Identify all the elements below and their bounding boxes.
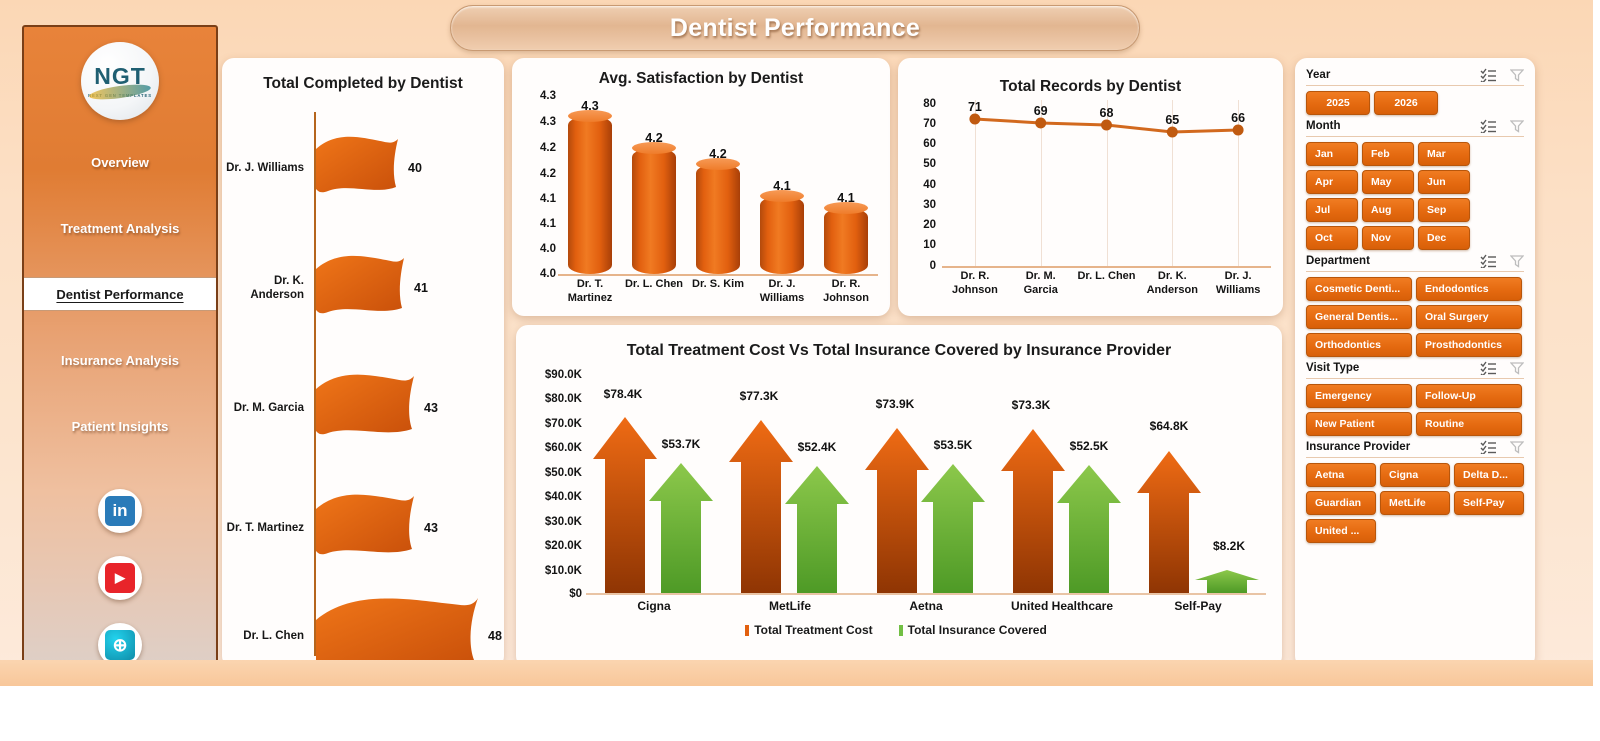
filter-chip[interactable]: May xyxy=(1362,170,1414,194)
y-tick: $0 xyxy=(569,588,582,600)
flag-bar-icon xyxy=(314,594,482,678)
filter-chip[interactable]: Jul xyxy=(1306,198,1358,222)
sidebar-item-label: Patient Insights xyxy=(72,419,169,434)
chart-title: Total Completed by Dentist xyxy=(222,75,504,93)
page-title: Dentist Performance xyxy=(670,14,920,43)
x-axis: Cigna MetLife Aetna United Healthcare Se… xyxy=(586,599,1266,613)
slicer-header-year: Year xyxy=(1306,68,1524,82)
arrow-bars[interactable] xyxy=(1137,371,1259,593)
linkedin-button[interactable]: in xyxy=(98,489,142,533)
chart-avg-satisfaction-by-dentist: Avg. Satisfaction by Dentist 4.3 4.3 4.2… xyxy=(512,58,890,316)
chart-total-records-by-dentist: Total Records by Dentist 80 70 60 50 40 … xyxy=(898,58,1283,316)
chart-bar-row[interactable]: Dr. J. Williams 40 xyxy=(222,118,504,218)
chart-bar-row[interactable]: Dr. L. Chen 48 xyxy=(222,586,504,686)
filter-chip[interactable]: MetLife xyxy=(1380,491,1450,515)
multi-select-icon[interactable] xyxy=(1480,68,1497,82)
y-tick: 4.2 xyxy=(540,168,556,180)
y-tick: 4.1 xyxy=(540,218,556,230)
category-label: Dr. J. Williams xyxy=(222,161,310,175)
y-axis: $90.0K $80.0K $70.0K $60.0K $50.0K $40.0… xyxy=(524,373,582,595)
multi-select-icon[interactable] xyxy=(1480,361,1497,375)
legend-item-treatment-cost[interactable]: Total Treatment Cost xyxy=(745,623,872,637)
filter-chip[interactable]: Guardian xyxy=(1306,491,1376,515)
brand-logo: NGT NEXT GEN TEMPLATES xyxy=(81,42,159,120)
bar-group: $78.4K $53.7K xyxy=(593,373,715,593)
filter-chip[interactable]: Cosmetic Denti... xyxy=(1306,277,1412,301)
y-tick: $50.0K xyxy=(545,467,582,479)
bars-container: $78.4K $53.7K $ xyxy=(586,373,1266,595)
bar-value: 43 xyxy=(424,521,438,535)
legend-swatch xyxy=(745,625,749,636)
bar-value: 48 xyxy=(488,629,502,643)
data-label: 69 xyxy=(1034,104,1048,118)
x-tick: Dr. K. Anderson xyxy=(1139,270,1205,298)
chart-bar[interactable]: 4.2 xyxy=(692,94,744,274)
arrow-bars[interactable] xyxy=(729,371,851,593)
bars-container: 4.3 4.2 4.2 4.1 4.1 xyxy=(558,94,878,276)
sidebar-item-insurance-analysis[interactable]: Insurance Analysis xyxy=(24,343,216,377)
x-tick: Cigna xyxy=(593,599,715,613)
filter-chip[interactable]: Prosthodontics xyxy=(1416,333,1522,357)
flag-bar-icon xyxy=(314,252,408,324)
divider xyxy=(1306,85,1524,86)
chart-title: Avg. Satisfaction by Dentist xyxy=(512,70,890,88)
chart-plot-area: 80 70 60 50 40 30 20 10 0 xyxy=(898,100,1277,316)
filter-chip[interactable]: Aetna xyxy=(1306,463,1376,487)
y-tick: 4.2 xyxy=(540,142,556,154)
y-tick: 50 xyxy=(923,158,936,170)
x-tick: Dr. S. Kim xyxy=(688,278,748,306)
bar-group: $64.8K $8.2K xyxy=(1137,373,1259,593)
y-tick: $70.0K xyxy=(545,418,582,430)
y-tick: $30.0K xyxy=(545,516,582,528)
flag-bar-icon xyxy=(314,491,418,565)
category-label: Dr. K. Anderson xyxy=(222,274,310,303)
slicer-title: Month xyxy=(1306,120,1480,132)
youtube-button[interactable]: ▶ xyxy=(98,556,142,600)
legend-label: Total Insurance Covered xyxy=(908,623,1047,637)
data-label: 68 xyxy=(1100,106,1114,120)
sidebar-item-treatment-analysis[interactable]: Treatment Analysis xyxy=(24,211,216,245)
sidebar-item-label: Overview xyxy=(91,155,149,170)
filter-chip[interactable]: Endodontics xyxy=(1416,277,1522,301)
bar-group: $77.3K $52.4K xyxy=(729,373,851,593)
sidebar-item-label: Insurance Analysis xyxy=(61,353,179,368)
multi-select-icon[interactable] xyxy=(1480,440,1497,454)
sidebar-item-dentist-performance[interactable]: Dentist Performance xyxy=(24,277,216,311)
y-tick: $80.0K xyxy=(545,393,582,405)
divider xyxy=(1306,378,1524,379)
slicer-title: Department xyxy=(1306,255,1480,267)
filter-chip[interactable]: Apr xyxy=(1306,170,1358,194)
y-tick: $40.0K xyxy=(545,491,582,503)
slicer-header-insurance-provider: Insurance Provider xyxy=(1306,440,1524,454)
category-label: Dr. M. Garcia xyxy=(222,401,310,415)
filter-chip[interactable]: Orthodontics xyxy=(1306,333,1412,357)
y-tick: 4.1 xyxy=(540,193,556,205)
chart-legend: Total Treatment Cost Total Insurance Cov… xyxy=(516,623,1276,637)
divider xyxy=(1306,271,1524,272)
clear-filter-icon[interactable] xyxy=(1510,440,1524,454)
chart-bar[interactable]: 4.3 xyxy=(564,94,616,274)
y-tick: 80 xyxy=(923,98,936,110)
x-tick: Aetna xyxy=(865,599,987,613)
chart-plot-area: $90.0K $80.0K $70.0K $60.0K $50.0K $40.0… xyxy=(516,373,1276,668)
slicer-title: Insurance Provider xyxy=(1306,441,1480,453)
chart-bar[interactable]: 4.2 xyxy=(628,94,680,274)
data-label: 66 xyxy=(1231,111,1245,125)
chart-bar-row[interactable]: Dr. M. Garcia 43 xyxy=(222,358,504,458)
filter-chip[interactable]: General Dentis... xyxy=(1306,305,1412,329)
filter-chip[interactable]: Aug xyxy=(1362,198,1414,222)
y-tick: 40 xyxy=(923,179,936,191)
sidebar-item-label: Dentist Performance xyxy=(56,287,183,302)
y-axis: 80 70 60 50 40 30 20 10 0 xyxy=(904,100,936,268)
y-tick: 4.3 xyxy=(540,90,556,102)
y-tick: $90.0K xyxy=(545,369,582,381)
chart-total-completed-by-dentist: Total Completed by Dentist Dr. J. Willia… xyxy=(222,58,504,668)
chart-bar-row[interactable]: Dr. K. Anderson 41 xyxy=(222,238,504,338)
flag-chart-body: Dr. J. Williams 40 Dr. K. Anderson 41 Dr… xyxy=(222,104,504,660)
x-tick: Self-Pay xyxy=(1137,599,1259,613)
filter-chip[interactable]: Follow-Up xyxy=(1416,384,1522,408)
filter-chip[interactable]: 2025 xyxy=(1306,91,1370,115)
linkedin-icon: in xyxy=(105,496,135,526)
filter-chip[interactable]: Sep xyxy=(1418,198,1470,222)
arrow-bars[interactable] xyxy=(593,371,715,593)
chart-title: Total Records by Dentist xyxy=(898,78,1283,96)
bar-value: 41 xyxy=(414,281,428,295)
globe-icon: ⊕ xyxy=(105,630,135,660)
legend-label: Total Treatment Cost xyxy=(754,623,872,637)
x-tick: United Healthcare xyxy=(1001,599,1123,613)
sidebar: NGT NEXT GEN TEMPLATES Overview Treatmen… xyxy=(22,25,218,675)
slicer-options-insurance-provider: Aetna Cigna Delta D... Guardian MetLife … xyxy=(1306,463,1524,543)
x-tick: Dr. L. Chen xyxy=(624,278,684,306)
x-tick: Dr. J. Williams xyxy=(752,278,812,306)
filter-chip[interactable]: Delta D... xyxy=(1454,463,1524,487)
flag-bar-icon xyxy=(314,371,418,445)
chart-title: Total Treatment Cost Vs Total Insurance … xyxy=(516,342,1282,360)
y-tick: 70 xyxy=(923,118,936,130)
filter-chip[interactable]: Dec xyxy=(1418,226,1470,250)
slicer-header-month: Month xyxy=(1306,119,1524,133)
sidebar-item-label: Treatment Analysis xyxy=(61,221,180,236)
bar-value: 43 xyxy=(424,401,438,415)
report-canvas: Dentist Performance NGT NEXT GEN TEMPLAT… xyxy=(0,0,1593,686)
chart-bar-row[interactable]: Dr. T. Martinez 43 xyxy=(222,478,504,578)
filter-chip[interactable]: Nov xyxy=(1362,226,1414,250)
x-tick: Dr. T. Martinez xyxy=(560,278,620,306)
y-tick: 20 xyxy=(923,219,936,231)
y-tick: 10 xyxy=(923,239,936,251)
logo-mark: NGT xyxy=(94,65,146,88)
website-button[interactable]: ⊕ xyxy=(98,623,142,667)
clear-filter-icon[interactable] xyxy=(1510,361,1524,375)
slicer-options-year: 2025 2026 xyxy=(1306,91,1524,115)
filter-chip[interactable]: Oral Surgery xyxy=(1416,305,1522,329)
x-tick: Dr. M. Garcia xyxy=(1008,270,1074,298)
filter-chip[interactable]: Self-Pay xyxy=(1454,491,1524,515)
y-tick: 0 xyxy=(930,260,936,272)
sidebar-item-overview[interactable]: Overview xyxy=(24,145,216,179)
slicer-title: Visit Type xyxy=(1306,362,1480,374)
y-tick: $20.0K xyxy=(545,540,582,552)
filter-panel: Year 2025 2026 Month xyxy=(1295,58,1535,668)
legend-item-insurance-covered[interactable]: Total Insurance Covered xyxy=(899,623,1047,637)
arrow-bars[interactable] xyxy=(865,371,987,593)
category-label: Dr. T. Martinez xyxy=(222,521,310,535)
filter-chip[interactable]: Jan xyxy=(1306,142,1358,166)
filter-chip[interactable]: Routine xyxy=(1416,412,1522,436)
multi-select-icon[interactable] xyxy=(1480,119,1497,133)
data-label: 65 xyxy=(1165,113,1179,127)
slicer-options-month: Jan Feb Mar Apr May Jun Jul Aug Sep Oct … xyxy=(1306,142,1524,250)
x-tick: Dr. L. Chen xyxy=(1074,270,1140,298)
x-axis: Dr. T. Martinez Dr. L. Chen Dr. S. Kim D… xyxy=(558,278,878,306)
legend-swatch xyxy=(899,625,903,636)
slicer-title: Year xyxy=(1306,69,1480,81)
filter-chip[interactable]: Cigna xyxy=(1380,463,1450,487)
youtube-icon: ▶ xyxy=(105,563,135,593)
plot-canvas: 71 69 68 65 66 xyxy=(942,100,1271,268)
bar-group: $73.3K $52.5K xyxy=(1001,373,1123,593)
x-tick: Dr. J. Williams xyxy=(1205,270,1271,298)
filter-chip[interactable]: Feb xyxy=(1362,142,1414,166)
y-tick: $10.0K xyxy=(545,565,582,577)
filter-chip[interactable]: Oct xyxy=(1306,226,1358,250)
y-tick: $60.0K xyxy=(545,442,582,454)
clear-filter-icon[interactable] xyxy=(1510,254,1524,268)
x-tick: Dr. R. Johnson xyxy=(816,278,876,306)
x-tick: MetLife xyxy=(729,599,851,613)
y-axis: 4.3 4.3 4.2 4.2 4.1 4.1 4.0 4.0 xyxy=(522,94,556,276)
chart-cost-vs-insurance: Total Treatment Cost Vs Total Insurance … xyxy=(516,325,1282,668)
chart-bar[interactable]: 4.1 xyxy=(756,94,808,274)
chart-bar[interactable]: 4.1 xyxy=(820,94,872,274)
divider xyxy=(1306,457,1524,458)
y-tick: 30 xyxy=(923,199,936,211)
bar-value: 40 xyxy=(408,161,422,175)
filter-chip[interactable]: Emergency xyxy=(1306,384,1412,408)
clear-filter-icon[interactable] xyxy=(1510,119,1524,133)
slicer-header-department: Department xyxy=(1306,254,1524,268)
line-series[interactable] xyxy=(942,100,1271,268)
y-tick: 60 xyxy=(923,138,936,150)
x-tick: Dr. R. Johnson xyxy=(942,270,1008,298)
filter-chip[interactable]: New Patient xyxy=(1306,412,1412,436)
multi-select-icon[interactable] xyxy=(1480,254,1497,268)
dashboard-page: Dentist Performance NGT NEXT GEN TEMPLAT… xyxy=(0,0,1600,741)
clear-filter-icon[interactable] xyxy=(1510,68,1524,82)
slicer-options-department: Cosmetic Denti... Endodontics General De… xyxy=(1306,277,1524,357)
filter-chip[interactable]: 2026 xyxy=(1374,91,1438,115)
chart-plot-area: 4.3 4.3 4.2 4.2 4.1 4.1 4.0 4.0 4.3 4.2 … xyxy=(512,94,882,316)
sidebar-item-patient-insights[interactable]: Patient Insights xyxy=(24,409,216,443)
page-title-banner: Dentist Performance xyxy=(450,5,1140,51)
x-axis: Dr. R. Johnson Dr. M. Garcia Dr. L. Chen… xyxy=(942,270,1271,298)
flag-bar-icon xyxy=(314,133,402,203)
arrow-bars[interactable] xyxy=(1001,371,1123,593)
slicer-options-visit-type: Emergency Follow-Up New Patient Routine xyxy=(1306,384,1524,436)
filter-chip[interactable]: Jun xyxy=(1418,170,1470,194)
y-tick: 4.0 xyxy=(540,268,556,280)
data-label: 71 xyxy=(968,100,982,114)
y-tick: 4.0 xyxy=(540,243,556,255)
filter-chip[interactable]: Mar xyxy=(1418,142,1470,166)
bar-group: $73.9K $53.5K xyxy=(865,373,987,593)
category-label: Dr. L. Chen xyxy=(222,629,310,643)
y-tick: 4.3 xyxy=(540,116,556,128)
divider xyxy=(1306,136,1524,137)
slicer-header-visit-type: Visit Type xyxy=(1306,361,1524,375)
filter-chip[interactable]: United ... xyxy=(1306,519,1376,543)
